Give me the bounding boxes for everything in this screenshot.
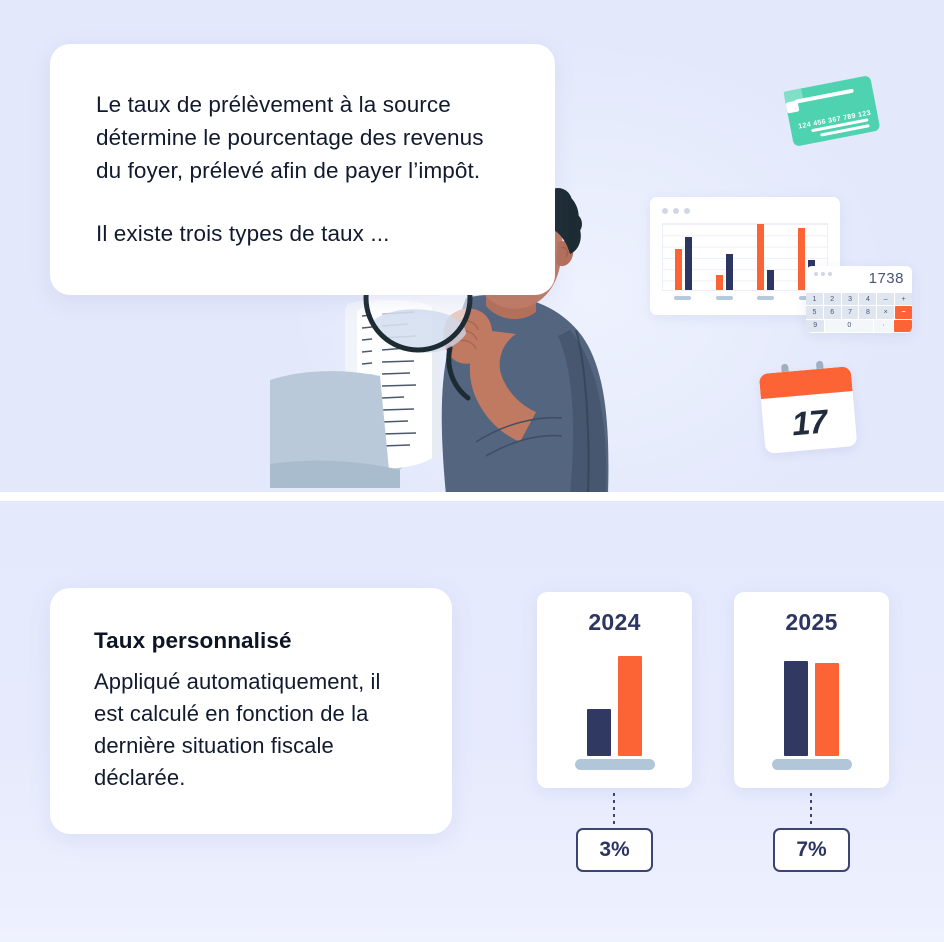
year-label: 2024 bbox=[537, 609, 692, 636]
window-chart-axis-ticks bbox=[662, 296, 828, 300]
calculator-key[interactable]: 9 bbox=[806, 320, 824, 332]
section-divider bbox=[0, 492, 944, 501]
connector-line-2025 bbox=[810, 793, 812, 826]
window-chart-bars bbox=[663, 224, 827, 290]
mini-bars bbox=[734, 644, 889, 756]
calculator-key-equals[interactable]: − bbox=[895, 306, 912, 318]
percent-badge-2024[interactable]: 3% bbox=[576, 828, 653, 872]
percent-badge-2025[interactable]: 7% bbox=[773, 828, 850, 872]
calculator-key-dot[interactable]: · bbox=[874, 320, 892, 332]
calculator-key[interactable]: 3 bbox=[842, 293, 859, 305]
calculator-key[interactable]: 5 bbox=[806, 306, 823, 318]
mini-chart-baseline bbox=[575, 759, 655, 770]
calculator-key-row: 9 0 · bbox=[806, 320, 912, 333]
rate-card-title: Taux personnalisé bbox=[94, 628, 408, 654]
calculator-key-zero[interactable]: 0 bbox=[825, 320, 873, 332]
connector-line-2024 bbox=[613, 793, 615, 826]
bar-pair bbox=[716, 224, 733, 290]
year-stat-card-2025[interactable]: 2025 bbox=[734, 592, 889, 788]
credit-card-illustration: 124 456 367 789 123 bbox=[783, 75, 880, 147]
calculator-key[interactable]: 4 bbox=[859, 293, 876, 305]
bar-pair bbox=[757, 224, 774, 290]
calculator-display: 1738 bbox=[869, 270, 904, 287]
window-dots-icon bbox=[662, 208, 690, 214]
year-mini-chart-2024 bbox=[537, 644, 692, 756]
calculator-key[interactable]: 1 bbox=[806, 293, 823, 305]
intro-text-card: Le taux de prélèvement à la source déter… bbox=[50, 44, 555, 295]
calculator-key[interactable]: 8 bbox=[859, 306, 876, 318]
calendar-illustration: 17 bbox=[759, 364, 858, 454]
window-dots-icon bbox=[814, 272, 832, 276]
intro-paragraph-2: Il existe trois types de taux ... bbox=[96, 217, 509, 250]
calculator-keypad: 1 2 3 4 – + 5 6 7 8 × − 9 0 bbox=[806, 293, 912, 333]
calculator-key[interactable]: 6 bbox=[824, 306, 841, 318]
calculator-key[interactable]: 7 bbox=[842, 306, 859, 318]
calculator-key[interactable]: × bbox=[877, 306, 894, 318]
year-stat-card-2024[interactable]: 2024 bbox=[537, 592, 692, 788]
intro-paragraph-1: Le taux de prélèvement à la source déter… bbox=[96, 88, 509, 187]
calculator-key[interactable]: – bbox=[877, 293, 894, 305]
year-mini-chart-2025 bbox=[734, 644, 889, 756]
year-label: 2025 bbox=[734, 609, 889, 636]
calculator-illustration: 1738 1 2 3 4 – + 5 6 7 8 × − bbox=[806, 266, 912, 333]
mini-bar-orange bbox=[618, 656, 642, 756]
mini-chart-baseline bbox=[772, 759, 852, 770]
calendar-day-number: 17 bbox=[761, 391, 857, 454]
calculator-key[interactable]: + bbox=[895, 293, 912, 305]
mini-bar-orange bbox=[815, 663, 839, 756]
calculator-key[interactable]: 2 bbox=[824, 293, 841, 305]
paragraph-spacer bbox=[96, 187, 509, 217]
mini-bar-navy bbox=[587, 709, 611, 756]
rate-card-body: Appliqué automatiquement, il est calculé… bbox=[94, 666, 408, 794]
rate-description-card: Taux personnalisé Appliqué automatiqueme… bbox=[50, 588, 452, 834]
window-chart-plot bbox=[662, 223, 828, 291]
mini-bar-navy bbox=[784, 661, 808, 756]
calculator-key-row: 5 6 7 8 × − bbox=[806, 306, 912, 319]
calendar-body: 17 bbox=[759, 366, 858, 454]
calculator-key-spacer[interactable] bbox=[894, 320, 912, 332]
mini-bars bbox=[537, 644, 692, 756]
calculator-key-row: 1 2 3 4 – + bbox=[806, 293, 912, 306]
infographic-canvas: 124 456 367 789 123 1738 bbox=[0, 0, 944, 942]
credit-card-stripe bbox=[794, 89, 854, 104]
bar-pair bbox=[675, 224, 692, 290]
